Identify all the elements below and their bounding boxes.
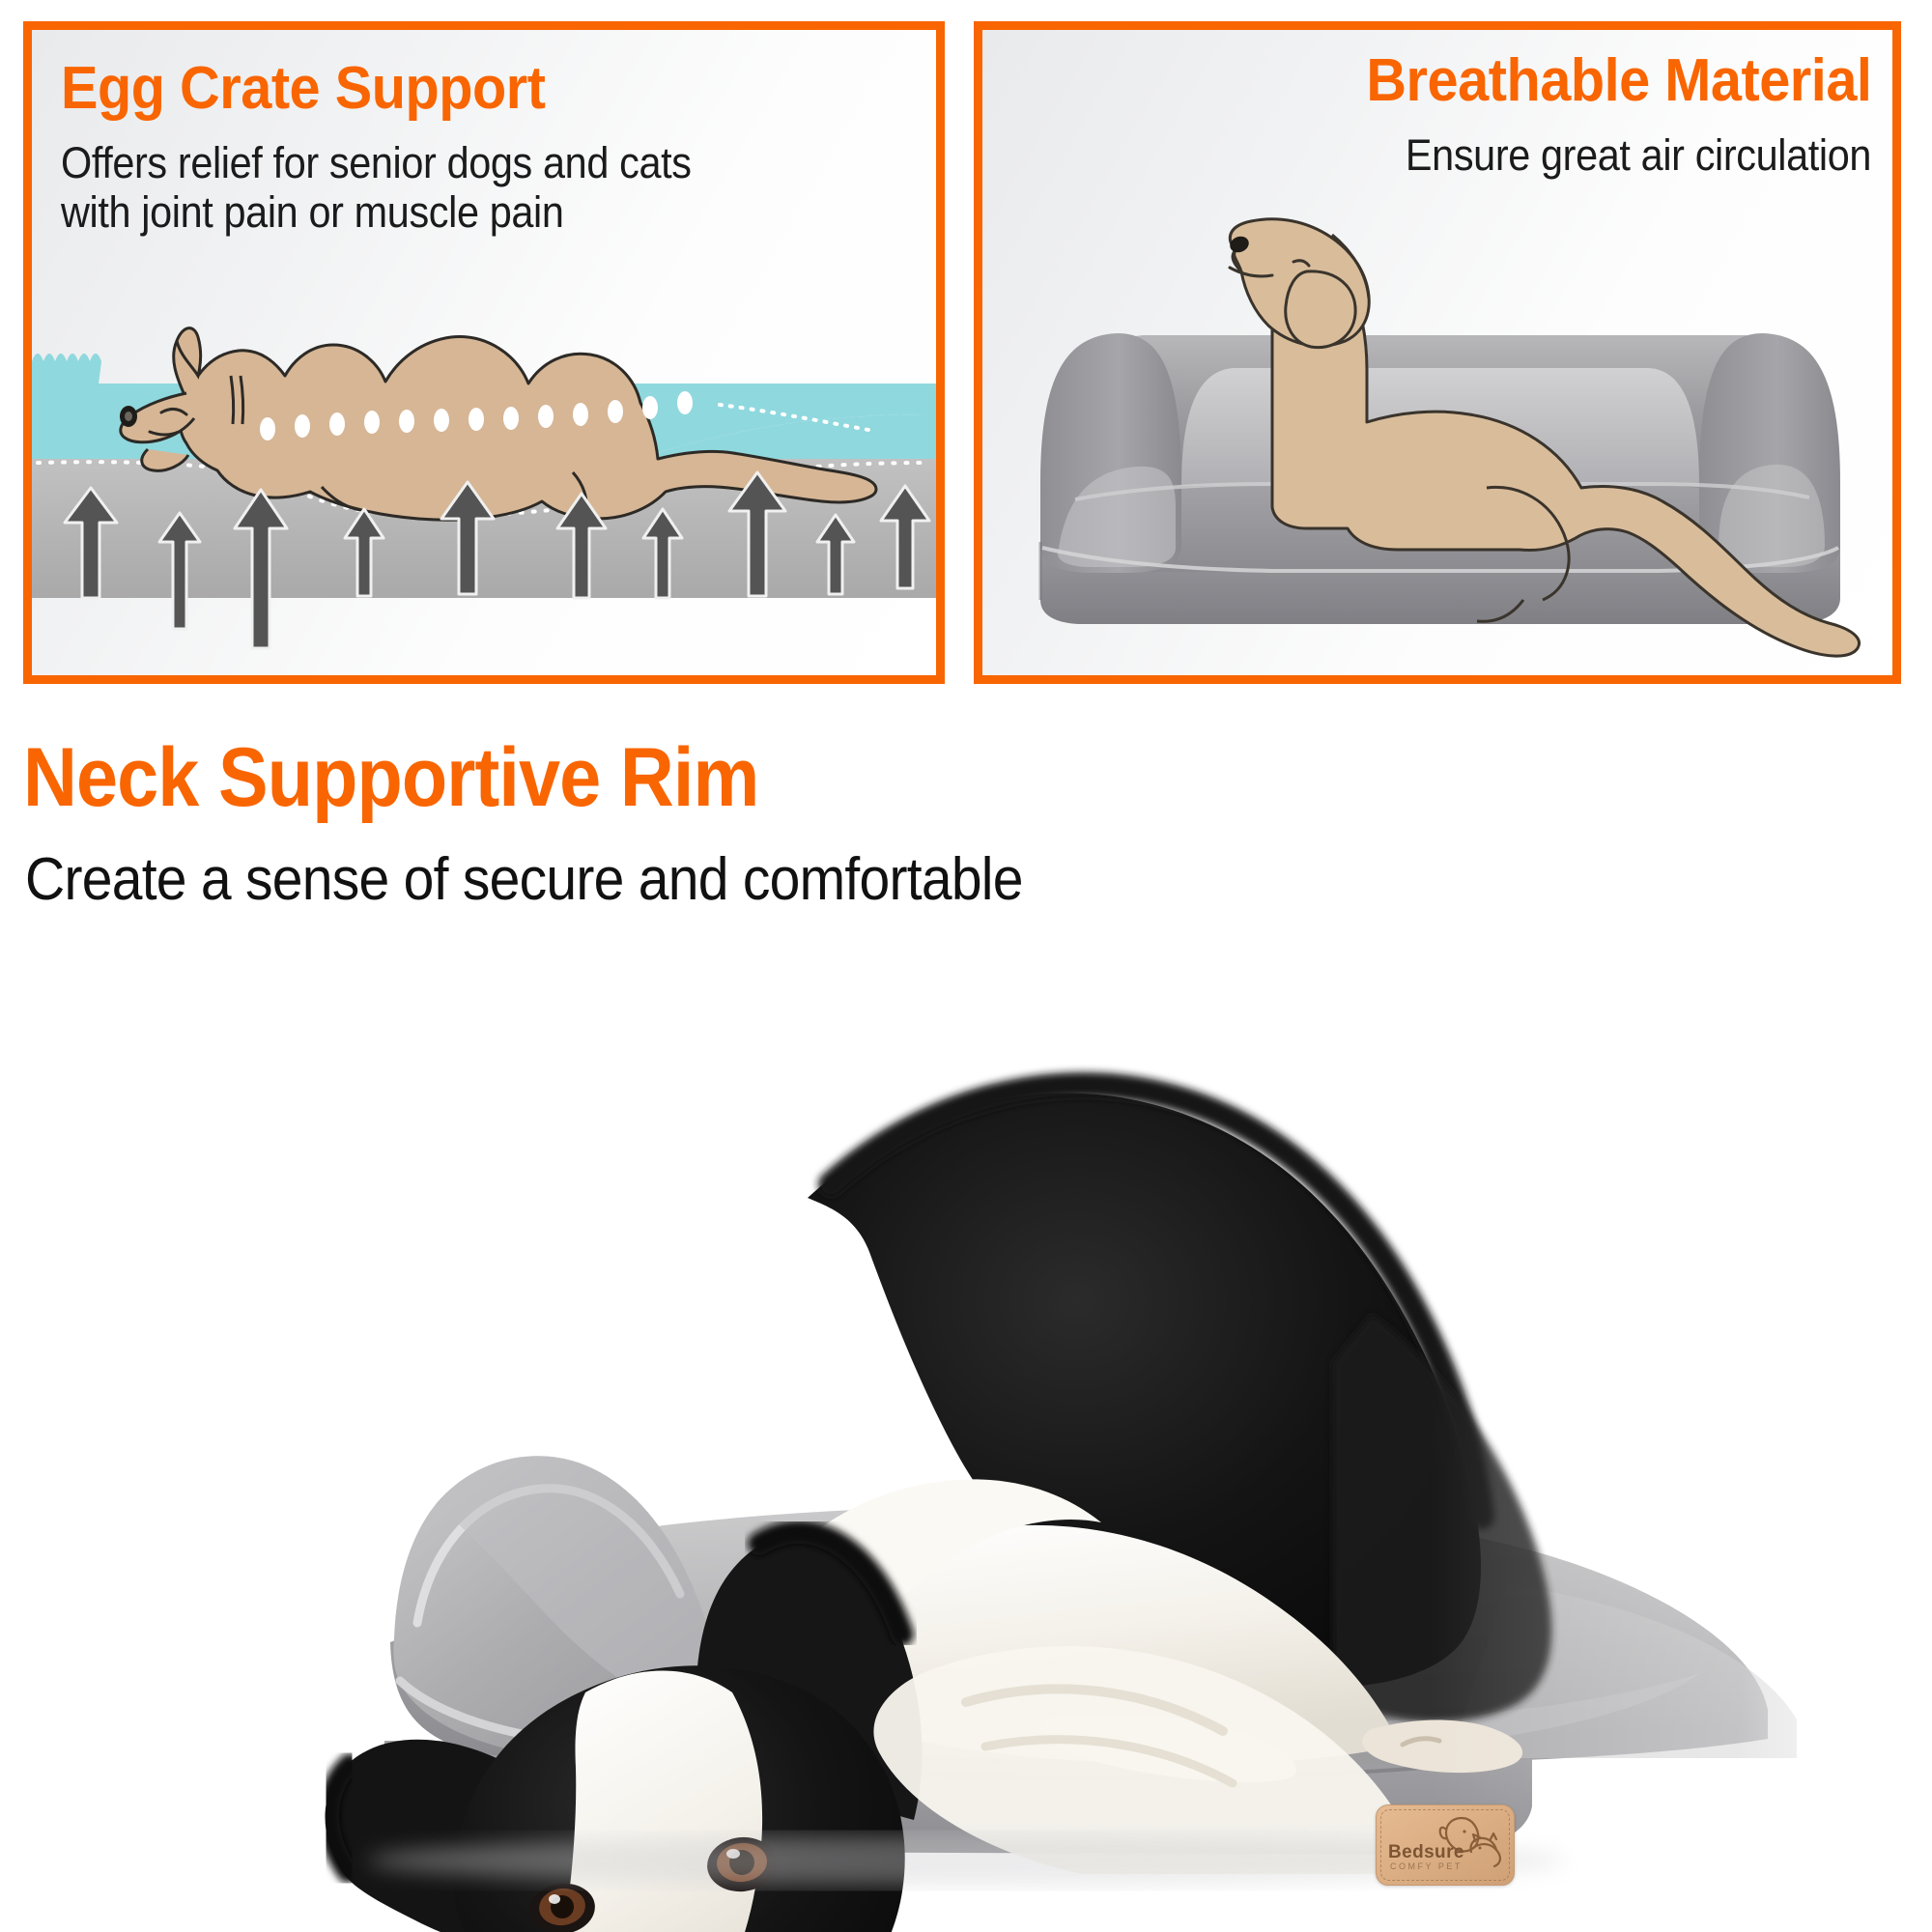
egg-crate-support-illustration [32,270,936,675]
panel-subtitle-egg-crate: Offers relief for senior dogs and cats w… [61,138,692,238]
hero-product-photo [0,908,1932,1932]
dog-nose-highlight [125,412,132,421]
dog-and-cat-head-outline-icon [1436,1813,1508,1867]
panel-subtitle-line-2: with joint pain or muscle pain [61,187,692,237]
panel-subtitle-line-1: Offers relief for senior dogs and cats [61,138,692,187]
dog-eye-left-glint [549,1894,560,1904]
border-collie-on-bed-photo [0,908,1932,1932]
panel-title-egg-crate: Egg Crate Support [61,59,545,119]
feature-panel-egg-crate: Egg Crate Support Offers relief for seni… [23,21,945,684]
infographic-page: Egg Crate Support Offers relief for seni… [0,0,1932,1932]
brand-tagline: COMFY PET [1390,1861,1463,1871]
brand-name: Bedsure [1388,1842,1464,1863]
brand-tag: Bedsure COMFY PET [1376,1804,1515,1886]
photo-right-fade [1430,908,1932,1932]
feature-heading-neck-supportive-rim: Neck Supportive Rim [23,736,758,819]
feature-panel-breathable-material: Breathable Material Ensure great air cir… [974,21,1901,684]
panel-title-breathable-material: Breathable Material [1366,51,1871,111]
dog-sitting-ear [1286,271,1355,348]
feature-subheading-neck-supportive-rim: Create a sense of secure and comfortable [25,850,1023,910]
breathable-material-illustration [982,163,1892,675]
